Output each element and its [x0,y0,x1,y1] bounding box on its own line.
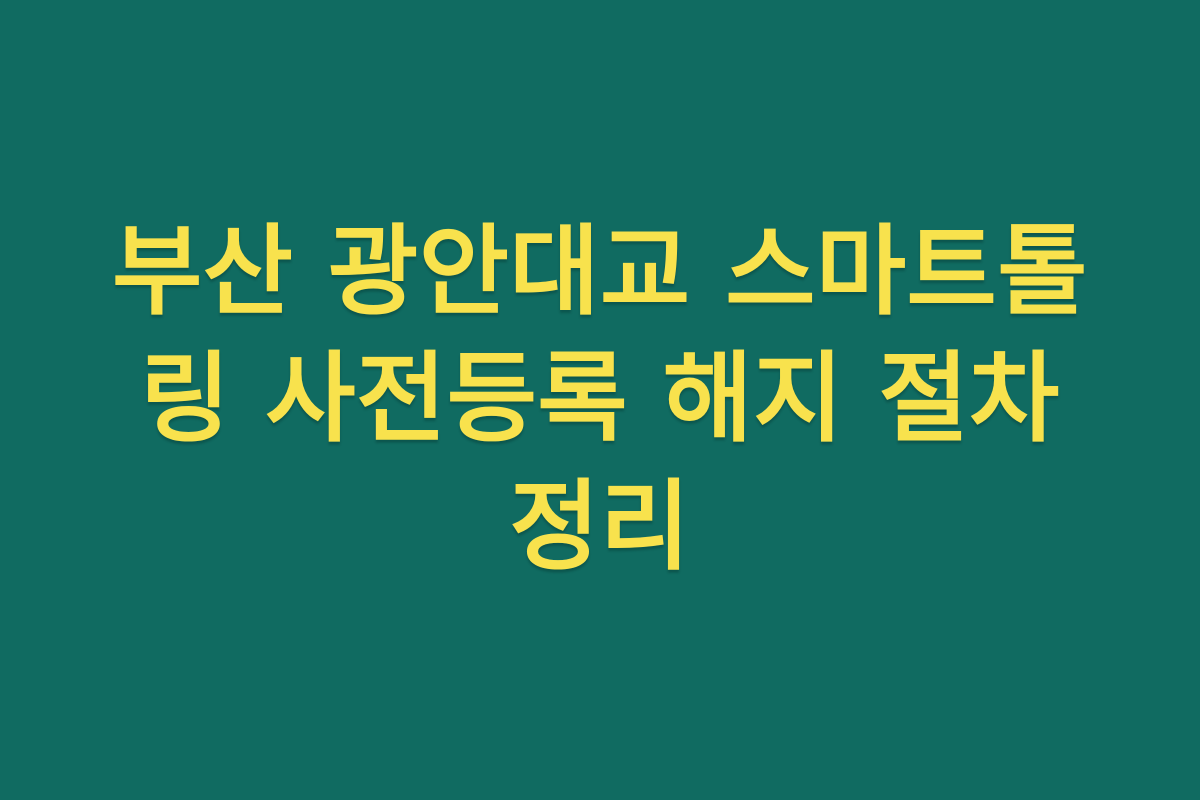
page-title: 부산 광안대교 스마트톨 링 사전등록 해지 절차 정리 [75,209,1125,591]
banner-canvas: 부산 광안대교 스마트톨 링 사전등록 해지 절차 정리 [0,0,1200,800]
